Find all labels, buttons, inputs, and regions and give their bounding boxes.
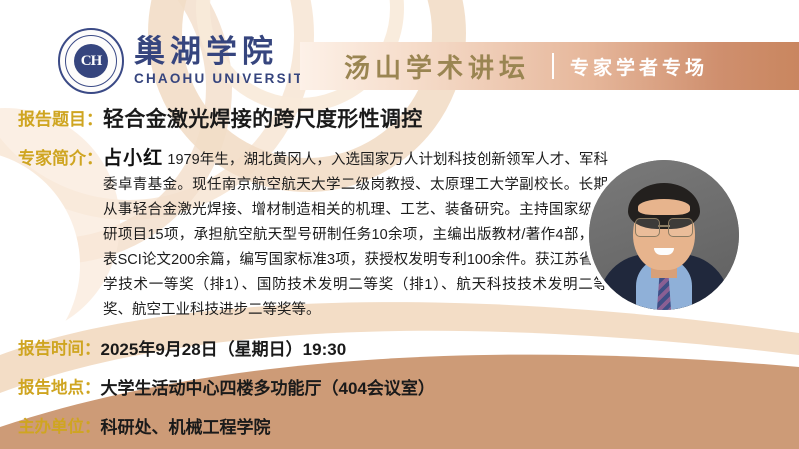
portrait-lens-right: [668, 218, 693, 237]
banner-title: 汤山学术讲坛: [344, 48, 530, 85]
portrait-lens-left: [635, 218, 660, 237]
report-time-value: 2025年9月28日（星期日）19:30: [101, 337, 347, 362]
report-place-label: 报告地点：: [18, 376, 101, 401]
report-host-row: 主办单位： 科研处、机械工程学院: [0, 415, 799, 440]
report-place-row: 报告地点： 大学生活动中心四楼多功能厅（404会议室）: [0, 376, 799, 401]
speaker-bio-label: 专家简介：: [18, 146, 103, 171]
portrait-glasses-icon: [635, 218, 693, 235]
speaker-name: 占小红: [103, 148, 163, 169]
university-name-en: CHAOHU UNIVERSITY: [134, 71, 315, 86]
report-time-row: 报告时间： 2025年9月28日（星期日）19:30: [0, 337, 799, 362]
report-title-value: 轻合金激光焊接的跨尺度形性调控: [103, 107, 423, 133]
banner-divider: [552, 53, 554, 79]
speaker-bio-body: 1979年生，湖北黄冈人，入选国家万人计划科技创新领军人才、军科委卓青基金。现任…: [103, 152, 608, 318]
report-title-label: 报告题目：: [18, 107, 103, 133]
university-name-block: 巢湖学院 CHAOHU UNIVERSITY: [134, 36, 315, 87]
university-logo: CH 巢湖学院 CHAOHU UNIVERSITY: [58, 28, 315, 94]
report-host-label: 主办单位：: [18, 415, 101, 440]
report-time-label: 报告时间：: [18, 337, 101, 362]
banner-subtitle: 专家学者专场: [570, 53, 708, 80]
report-title-row: 报告题目： 轻合金激光焊接的跨尺度形性调控: [0, 107, 799, 133]
poster-header: CH 巢湖学院 CHAOHU UNIVERSITY 汤山学术讲坛 专家学者专场: [0, 0, 799, 104]
report-place-value: 大学生活动中心四楼多功能厅（404会议室）: [101, 376, 435, 401]
university-name-cn: 巢湖学院: [134, 36, 315, 69]
event-banner: 汤山学术讲坛 专家学者专场: [300, 42, 799, 90]
speaker-bio-text: 占小红 1979年生，湖北黄冈人，入选国家万人计划科技创新领军人才、军科委卓青基…: [103, 146, 608, 323]
report-host-value: 科研处、机械工程学院: [101, 415, 271, 440]
emblem-monogram: CH: [74, 44, 108, 78]
university-emblem-icon: CH: [58, 28, 124, 94]
lecture-poster: CH 巢湖学院 CHAOHU UNIVERSITY 汤山学术讲坛 专家学者专场 …: [0, 0, 799, 449]
speaker-portrait: [589, 160, 739, 310]
